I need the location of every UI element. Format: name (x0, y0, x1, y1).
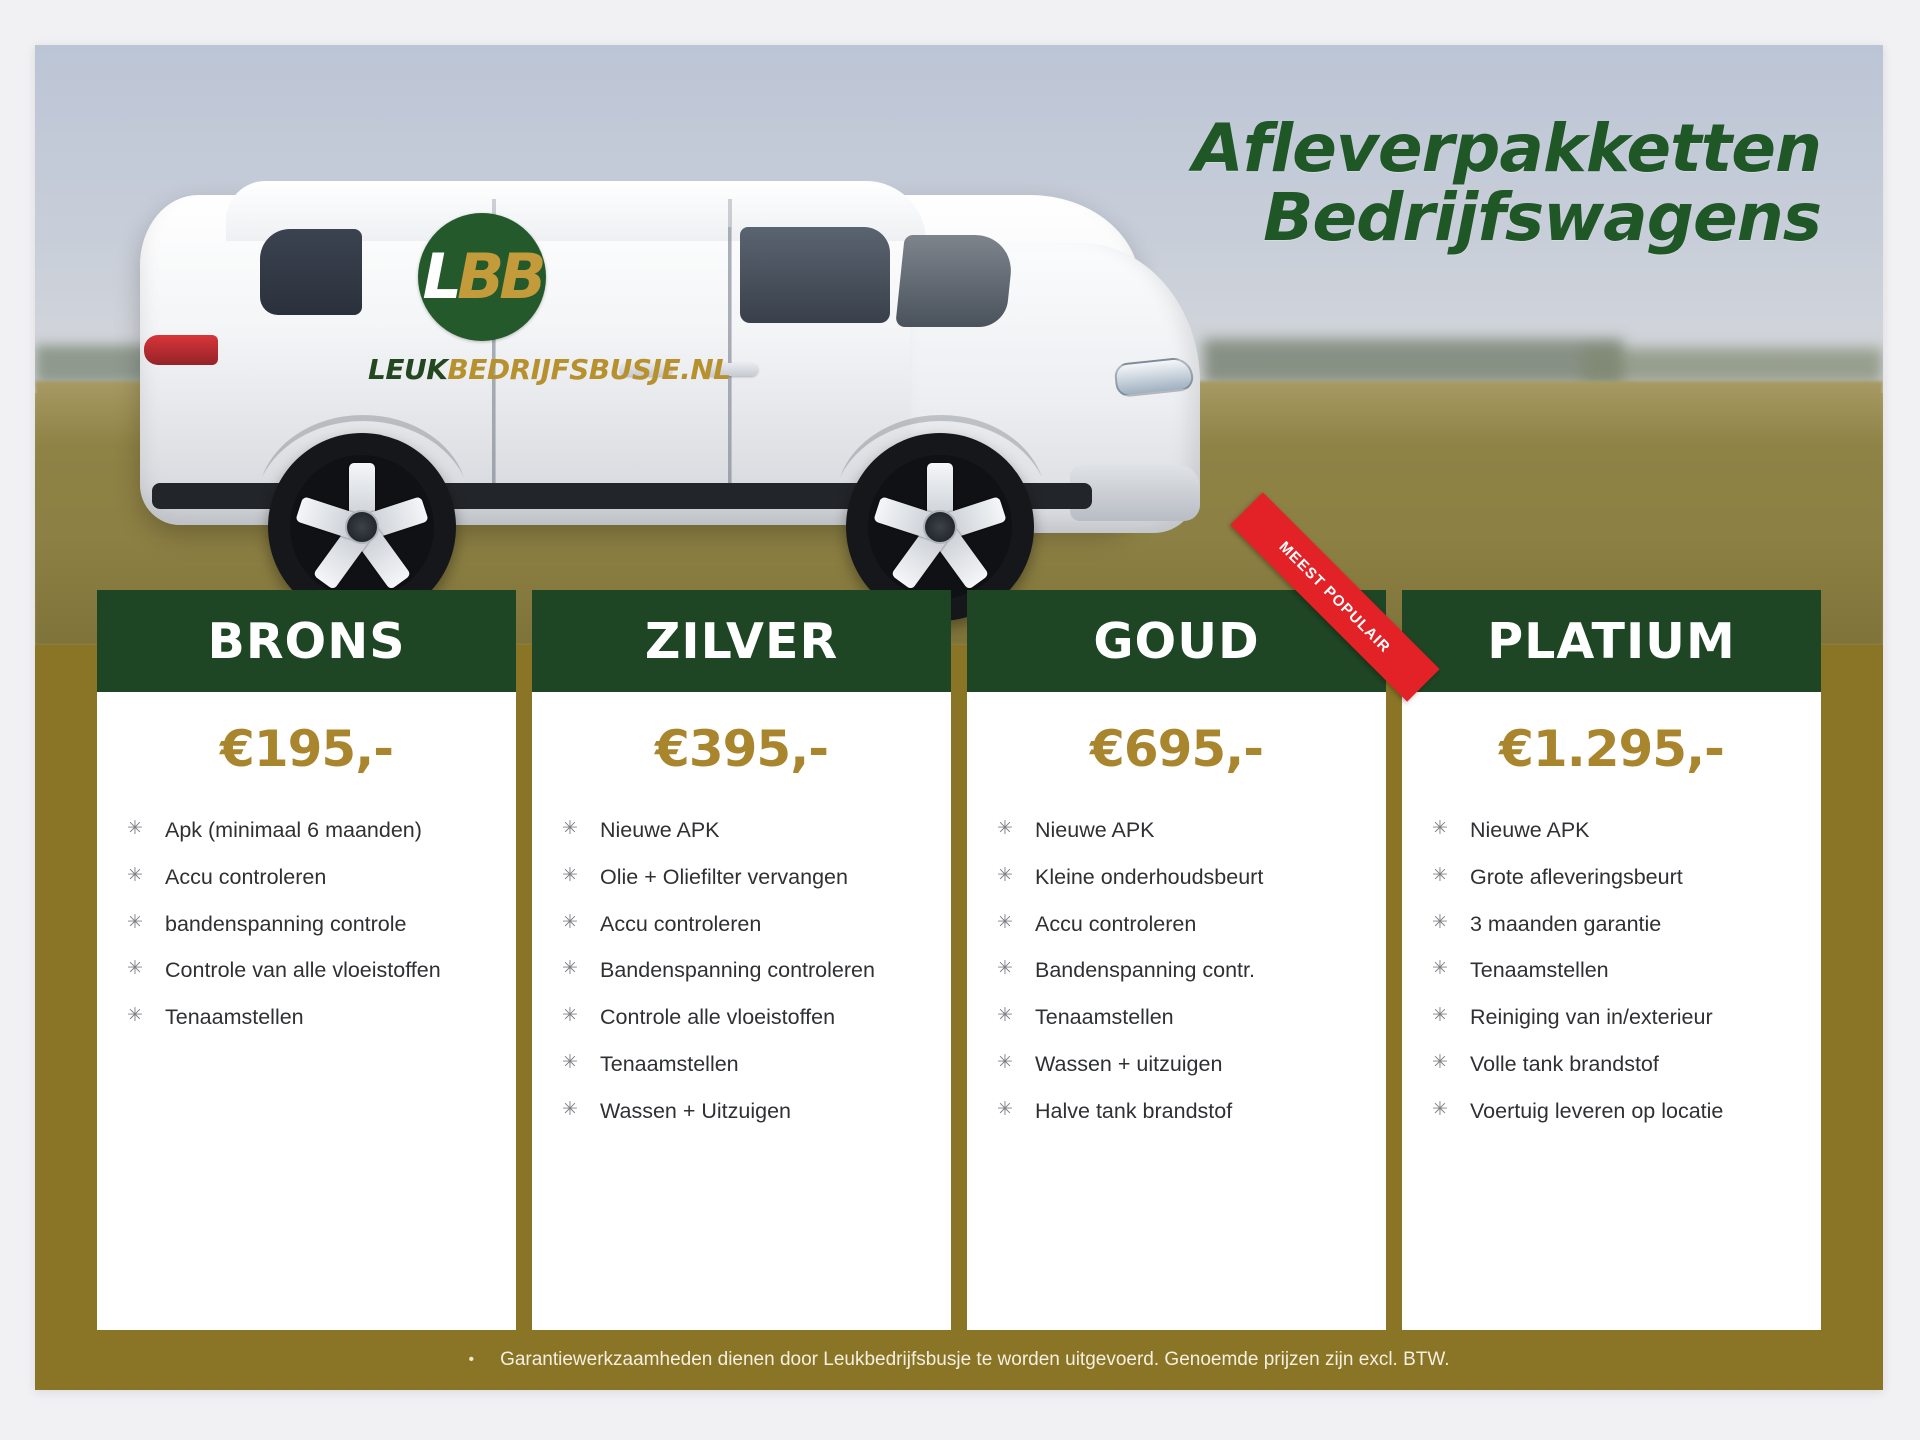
package-price-zilver: €395,- (532, 720, 951, 778)
bullet-icon: ✳ (127, 959, 143, 978)
feature-text: Nieuwe APK (1035, 818, 1155, 842)
bullet-icon: ✳ (997, 866, 1013, 885)
list-item: ✳Tenaamstellen (119, 1005, 516, 1031)
bullet-icon: ✳ (562, 1100, 578, 1119)
list-item: ✳3 maanden garantie (1424, 912, 1821, 938)
bullet-icon: ✳ (1432, 1053, 1448, 1072)
bullet-icon: ✳ (1432, 959, 1448, 978)
bullet-icon: ✳ (997, 1100, 1013, 1119)
package-name-zilver: ZILVER (645, 613, 838, 670)
list-item: ✳Wassen + Uitzuigen (554, 1099, 951, 1125)
feature-text: 3 maanden garantie (1470, 912, 1661, 936)
package-body-platium: €1.295,- ✳Nieuwe APK ✳Grote afleveringsb… (1402, 692, 1821, 1330)
bullet-icon: ✳ (562, 959, 578, 978)
bullet-icon: ✳ (997, 1006, 1013, 1025)
package-header-zilver: ZILVER (532, 590, 951, 692)
van-wheel-hub-front (923, 510, 957, 544)
feature-text: Volle tank brandstof (1470, 1052, 1659, 1076)
footer-bullet-icon: • (468, 1351, 474, 1369)
list-item: ✳Accu controleren (989, 912, 1386, 938)
hill-right (1203, 339, 1623, 385)
list-item: ✳Bandenspanning contr. (989, 958, 1386, 984)
bullet-icon: ✳ (997, 1053, 1013, 1072)
brand-url-part-1: LEUK (368, 353, 447, 386)
list-item: ✳Nieuwe APK (989, 818, 1386, 844)
list-item: ✳Grote afleveringsbeurt (1424, 865, 1821, 891)
van-door-window (740, 227, 890, 323)
list-item: ✳Tenaamstellen (989, 1005, 1386, 1031)
package-name-goud: GOUD (1093, 613, 1259, 670)
feature-text: bandenspanning controle (165, 912, 406, 936)
logo-letter-l: L (422, 240, 457, 313)
feature-text: Nieuwe APK (600, 818, 720, 842)
feature-list-zilver: ✳Nieuwe APK ✳Olie + Oliefilter vervangen… (554, 818, 951, 1125)
brand-url-part-2: BEDRIJFSBUSJE.NL (447, 353, 730, 386)
bullet-icon: ✳ (1432, 1100, 1448, 1119)
list-item: ✳Controle alle vloeistoffen (554, 1005, 951, 1031)
package-price-brons: €195,- (97, 720, 516, 778)
title-line-2: Bedrijfswagens (1193, 184, 1821, 253)
van-wheel-hub-rear (345, 510, 379, 544)
feature-text: Tenaamstellen (165, 1005, 304, 1029)
pricing-cards: BRONS €195,- ✳Apk (minimaal 6 maanden) ✳… (35, 590, 1883, 1330)
feature-text: Bandenspanning controleren (600, 958, 875, 982)
feature-list-brons: ✳Apk (minimaal 6 maanden) ✳Accu controle… (119, 818, 516, 1031)
feature-text: Tenaamstellen (1470, 958, 1609, 982)
package-header-brons: BRONS (97, 590, 516, 692)
van-rear-window (260, 229, 362, 315)
list-item: ✳Reiniging van in/exterieur (1424, 1005, 1821, 1031)
bullet-icon: ✳ (997, 959, 1013, 978)
package-header-platium: PLATIUM (1402, 590, 1821, 692)
list-item: ✳Nieuwe APK (1424, 818, 1821, 844)
bullet-icon: ✳ (1432, 913, 1448, 932)
package-body-zilver: €395,- ✳Nieuwe APK ✳Olie + Oliefilter ve… (532, 692, 951, 1330)
list-item: ✳Volle tank brandstof (1424, 1052, 1821, 1078)
van-windshield (895, 235, 1015, 327)
feature-text: Accu controleren (600, 912, 761, 936)
bullet-icon: ✳ (127, 1006, 143, 1025)
feature-text: Halve tank brandstof (1035, 1099, 1232, 1123)
van-illustration: LBB LEUKBEDRIJFSBUSJE.NL (140, 165, 1220, 615)
list-item: ✳Olie + Oliefilter vervangen (554, 865, 951, 891)
feature-list-platium: ✳Nieuwe APK ✳Grote afleveringsbeurt ✳3 m… (1424, 818, 1821, 1125)
list-item: ✳Accu controleren (554, 912, 951, 938)
brand-logo-icon: LBB (418, 213, 546, 341)
package-price-goud: €695,- (967, 720, 1386, 778)
bullet-icon: ✳ (1432, 819, 1448, 838)
package-card-zilver[interactable]: ZILVER €395,- ✳Nieuwe APK ✳Olie + Oliefi… (532, 590, 951, 1330)
bullet-icon: ✳ (997, 913, 1013, 932)
feature-text: Tenaamstellen (600, 1052, 739, 1076)
feature-text: Controle van alle vloeistoffen (165, 958, 441, 982)
hill-right-far (1583, 348, 1883, 384)
list-item: ✳Bandenspanning controleren (554, 958, 951, 984)
bullet-icon: ✳ (562, 819, 578, 838)
feature-text: Accu controleren (1035, 912, 1196, 936)
feature-text: Controle alle vloeistoffen (600, 1005, 835, 1029)
list-item: ✳Accu controleren (119, 865, 516, 891)
brand-website-wordmark: LEUKBEDRIJFSBUSJE.NL (368, 353, 731, 386)
feature-list-goud: ✳Nieuwe APK ✳Kleine onderhoudsbeurt ✳Acc… (989, 818, 1386, 1125)
list-item: ✳Tenaamstellen (1424, 958, 1821, 984)
list-item: ✳Controle van alle vloeistoffen (119, 958, 516, 984)
feature-text: Tenaamstellen (1035, 1005, 1174, 1029)
footer-text: Garantiewerkzaamheden dienen door Leukbe… (500, 1349, 1449, 1371)
feature-text: Olie + Oliefilter vervangen (600, 865, 848, 889)
package-name-platium: PLATIUM (1487, 613, 1735, 670)
list-item: ✳bandenspanning controle (119, 912, 516, 938)
package-card-goud[interactable]: MEEST POPULAIR GOUD €695,- ✳Nieuwe APK ✳… (967, 590, 1386, 1330)
footer-disclaimer: • Garantiewerkzaamheden dienen door Leuk… (35, 1330, 1883, 1390)
van-taillight (144, 335, 218, 365)
list-item: ✳Kleine onderhoudsbeurt (989, 865, 1386, 891)
feature-text: Voertuig leveren op locatie (1470, 1099, 1723, 1123)
list-item: ✳Halve tank brandstof (989, 1099, 1386, 1125)
feature-text: Wassen + Uitzuigen (600, 1099, 791, 1123)
bullet-icon: ✳ (127, 866, 143, 885)
package-body-brons: €195,- ✳Apk (minimaal 6 maanden) ✳Accu c… (97, 692, 516, 1330)
feature-text: Accu controleren (165, 865, 326, 889)
bullet-icon: ✳ (562, 866, 578, 885)
bullet-icon: ✳ (562, 1006, 578, 1025)
logo-letter-bb: BB (457, 240, 542, 313)
bullet-icon: ✳ (997, 819, 1013, 838)
feature-text: Grote afleveringsbeurt (1470, 865, 1683, 889)
feature-text: Kleine onderhoudsbeurt (1035, 865, 1263, 889)
feature-text: Bandenspanning contr. (1035, 958, 1255, 982)
bullet-icon: ✳ (562, 913, 578, 932)
bullet-icon: ✳ (127, 913, 143, 932)
feature-text: Apk (minimaal 6 maanden) (165, 818, 422, 842)
list-item: ✳Wassen + uitzuigen (989, 1052, 1386, 1078)
package-card-platium[interactable]: PLATIUM €1.295,- ✳Nieuwe APK ✳Grote afle… (1402, 590, 1821, 1330)
list-item: ✳Voertuig leveren op locatie (1424, 1099, 1821, 1125)
package-header-goud: GOUD (967, 590, 1386, 692)
feature-text: Reiniging van in/exterieur (1470, 1005, 1713, 1029)
package-name-brons: BRONS (207, 613, 405, 670)
poster-title: Afleverpakketten Bedrijfswagens (1193, 115, 1821, 252)
pricing-poster: LBB LEUKBEDRIJFSBUSJE.NL Afleverpakkette… (35, 45, 1883, 1390)
title-line-1: Afleverpakketten (1193, 115, 1821, 184)
bullet-icon: ✳ (1432, 866, 1448, 885)
bullet-icon: ✳ (127, 819, 143, 838)
package-card-brons[interactable]: BRONS €195,- ✳Apk (minimaal 6 maanden) ✳… (97, 590, 516, 1330)
package-body-goud: €695,- ✳Nieuwe APK ✳Kleine onderhoudsbeu… (967, 692, 1386, 1330)
feature-text: Nieuwe APK (1470, 818, 1590, 842)
list-item: ✳Nieuwe APK (554, 818, 951, 844)
bullet-icon: ✳ (562, 1053, 578, 1072)
package-price-platium: €1.295,- (1402, 720, 1821, 778)
list-item: ✳Tenaamstellen (554, 1052, 951, 1078)
bullet-icon: ✳ (1432, 1006, 1448, 1025)
hero-photo: LBB LEUKBEDRIJFSBUSJE.NL Afleverpakkette… (35, 45, 1883, 645)
feature-text: Wassen + uitzuigen (1035, 1052, 1222, 1076)
list-item: ✳Apk (minimaal 6 maanden) (119, 818, 516, 844)
